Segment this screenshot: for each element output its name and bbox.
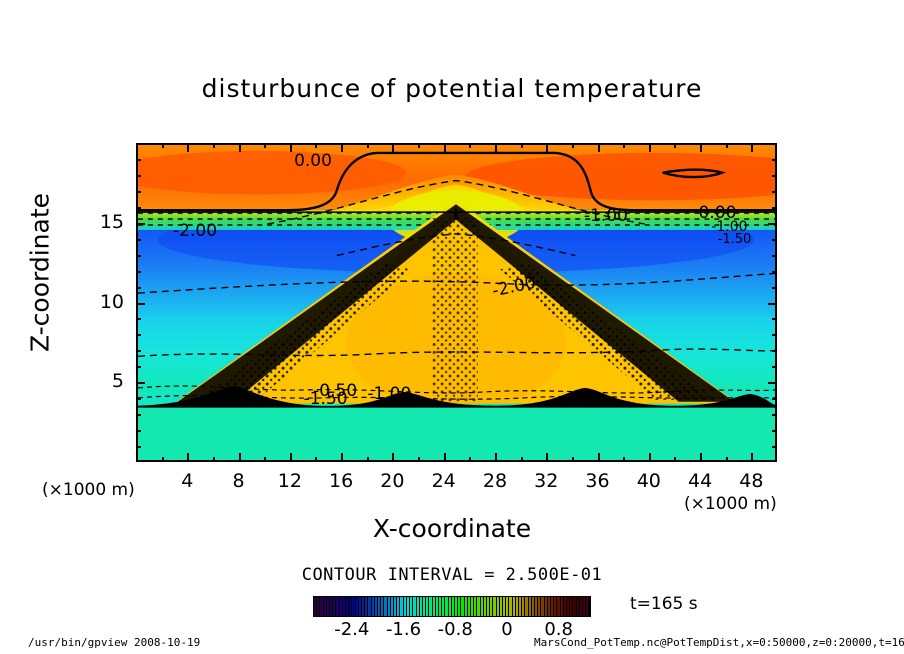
y-axis-tick (772, 239, 777, 241)
y-axis-tick (772, 318, 777, 320)
x-axis-tick (649, 143, 651, 152)
x-axis-tick-label: 48 (731, 470, 771, 492)
y-axis-tick (136, 159, 141, 161)
x-unit-right: (×1000 m) (684, 494, 777, 514)
y-axis-label: Z-coordinate (26, 173, 55, 373)
page-title: disturbunce of potential temperature (0, 74, 904, 103)
x-axis-tick (187, 143, 189, 152)
x-axis-tick (469, 143, 471, 148)
y-axis-tick (768, 303, 777, 305)
x-axis-tick (187, 453, 189, 462)
x-axis-tick (315, 457, 317, 462)
x-axis-tick (392, 453, 394, 462)
contour-label: -1.00 (584, 206, 628, 226)
x-axis-tick (418, 457, 420, 462)
y-axis-tick (772, 414, 777, 416)
x-axis-tick (290, 453, 292, 462)
x-axis-tick-label: 20 (372, 470, 412, 492)
y-axis-tick (136, 271, 141, 273)
y-axis-tick (136, 207, 141, 209)
x-axis-tick (367, 143, 369, 148)
x-axis-tick (726, 457, 728, 462)
y-axis-tick (136, 446, 141, 448)
y-axis-tick-label: 15 (84, 211, 124, 233)
x-axis-tick (649, 453, 651, 462)
x-axis-tick (290, 143, 292, 152)
footer-right-text: MarsCond_PotTemp.nc@PotTempDist,x=0:5000… (534, 636, 904, 649)
x-axis-tick (521, 457, 523, 462)
x-axis-tick-label: 4 (167, 470, 207, 492)
x-axis-tick (700, 143, 702, 152)
y-axis-tick (136, 398, 141, 400)
x-axis-tick (623, 143, 625, 148)
x-axis-tick (598, 143, 600, 152)
x-unit-left: (×1000 m) (42, 480, 135, 500)
x-axis-tick (546, 453, 548, 462)
y-axis-tick (136, 255, 141, 257)
x-axis-tick (162, 143, 164, 148)
y-axis-tick (136, 239, 141, 241)
x-axis-tick (213, 143, 215, 148)
x-axis-tick (367, 457, 369, 462)
x-axis-tick-label: 40 (629, 470, 669, 492)
y-axis-tick (772, 398, 777, 400)
footer-left-text: /usr/bin/gpview 2008-10-19 (28, 636, 200, 649)
y-axis-tick (768, 223, 777, 225)
x-axis-label: X-coordinate (0, 514, 904, 543)
x-axis-tick-label: 16 (321, 470, 361, 492)
x-axis-tick (598, 453, 600, 462)
x-axis-tick (572, 457, 574, 462)
x-axis-tick (444, 143, 446, 152)
y-axis-tick (772, 430, 777, 432)
x-axis-tick (751, 143, 753, 152)
contour-label: -1.00 (367, 384, 411, 404)
x-axis-tick (239, 453, 241, 462)
x-axis-tick (341, 143, 343, 152)
x-axis-tick-label: 12 (270, 470, 310, 492)
y-axis-tick (772, 366, 777, 368)
y-axis-tick (768, 382, 777, 384)
x-axis-tick (264, 143, 266, 148)
y-axis-tick (136, 430, 141, 432)
y-axis-tick (772, 350, 777, 352)
y-axis-tick (136, 382, 145, 384)
y-axis-tick (772, 191, 777, 193)
y-axis-tick-label: 10 (84, 291, 124, 313)
y-axis-tick (136, 191, 141, 193)
colorbar-swatch (586, 597, 589, 616)
y-axis-tick (136, 175, 141, 177)
x-axis-tick (469, 457, 471, 462)
y-axis-tick (136, 366, 141, 368)
x-axis-tick (623, 457, 625, 462)
y-axis-tick (772, 207, 777, 209)
x-axis-tick (700, 453, 702, 462)
x-axis-tick (392, 143, 394, 152)
contour-label: -1.50 (718, 232, 752, 247)
contour-label: -2.00 (173, 221, 217, 241)
y-axis-tick (136, 287, 141, 289)
x-axis-tick (239, 143, 241, 152)
x-axis-tick-label: 44 (680, 470, 720, 492)
x-axis-tick (674, 457, 676, 462)
x-axis-tick (418, 143, 420, 148)
x-axis-tick-label: 24 (424, 470, 464, 492)
plot-area: 0.00 0.00 -1.00 -1.50 -2.00 -1.00 -2.00 … (136, 143, 777, 462)
y-axis-tick (136, 223, 145, 225)
x-axis-tick-label: 28 (475, 470, 515, 492)
x-axis-tick (315, 143, 317, 148)
contour-interval-text: CONTOUR INTERVAL = 2.500E-01 (0, 565, 904, 585)
x-axis-tick (444, 453, 446, 462)
x-axis-tick (572, 143, 574, 148)
x-axis-tick (341, 453, 343, 462)
x-axis-tick (521, 143, 523, 148)
y-axis-tick (136, 318, 141, 320)
x-axis-tick (495, 453, 497, 462)
y-axis-tick-label: 5 (84, 370, 124, 392)
x-axis-tick (213, 457, 215, 462)
y-axis-tick (772, 287, 777, 289)
y-axis-tick (136, 350, 141, 352)
x-axis-tick (546, 143, 548, 152)
x-axis-tick (495, 143, 497, 152)
x-axis-tick (264, 457, 266, 462)
x-axis-tick (674, 143, 676, 148)
contour-label: -0.50 (313, 381, 357, 401)
y-axis-tick (772, 159, 777, 161)
colorbar[interactable] (313, 596, 591, 617)
x-axis-tick (726, 143, 728, 148)
contour-field (138, 145, 775, 460)
y-axis-tick (136, 334, 141, 336)
y-axis-tick (772, 271, 777, 273)
x-axis-tick-label: 8 (219, 470, 259, 492)
y-axis-tick (772, 255, 777, 257)
time-label: t=165 s (630, 594, 698, 614)
y-axis-tick (772, 175, 777, 177)
y-axis-tick (772, 334, 777, 336)
x-axis-tick (162, 457, 164, 462)
y-axis-tick (772, 446, 777, 448)
y-axis-tick (136, 414, 141, 416)
x-axis-tick-label: 36 (578, 470, 618, 492)
contour-label: 0.00 (294, 151, 332, 171)
x-axis-tick (751, 453, 753, 462)
x-axis-tick-label: 32 (526, 470, 566, 492)
y-axis-tick (136, 303, 145, 305)
